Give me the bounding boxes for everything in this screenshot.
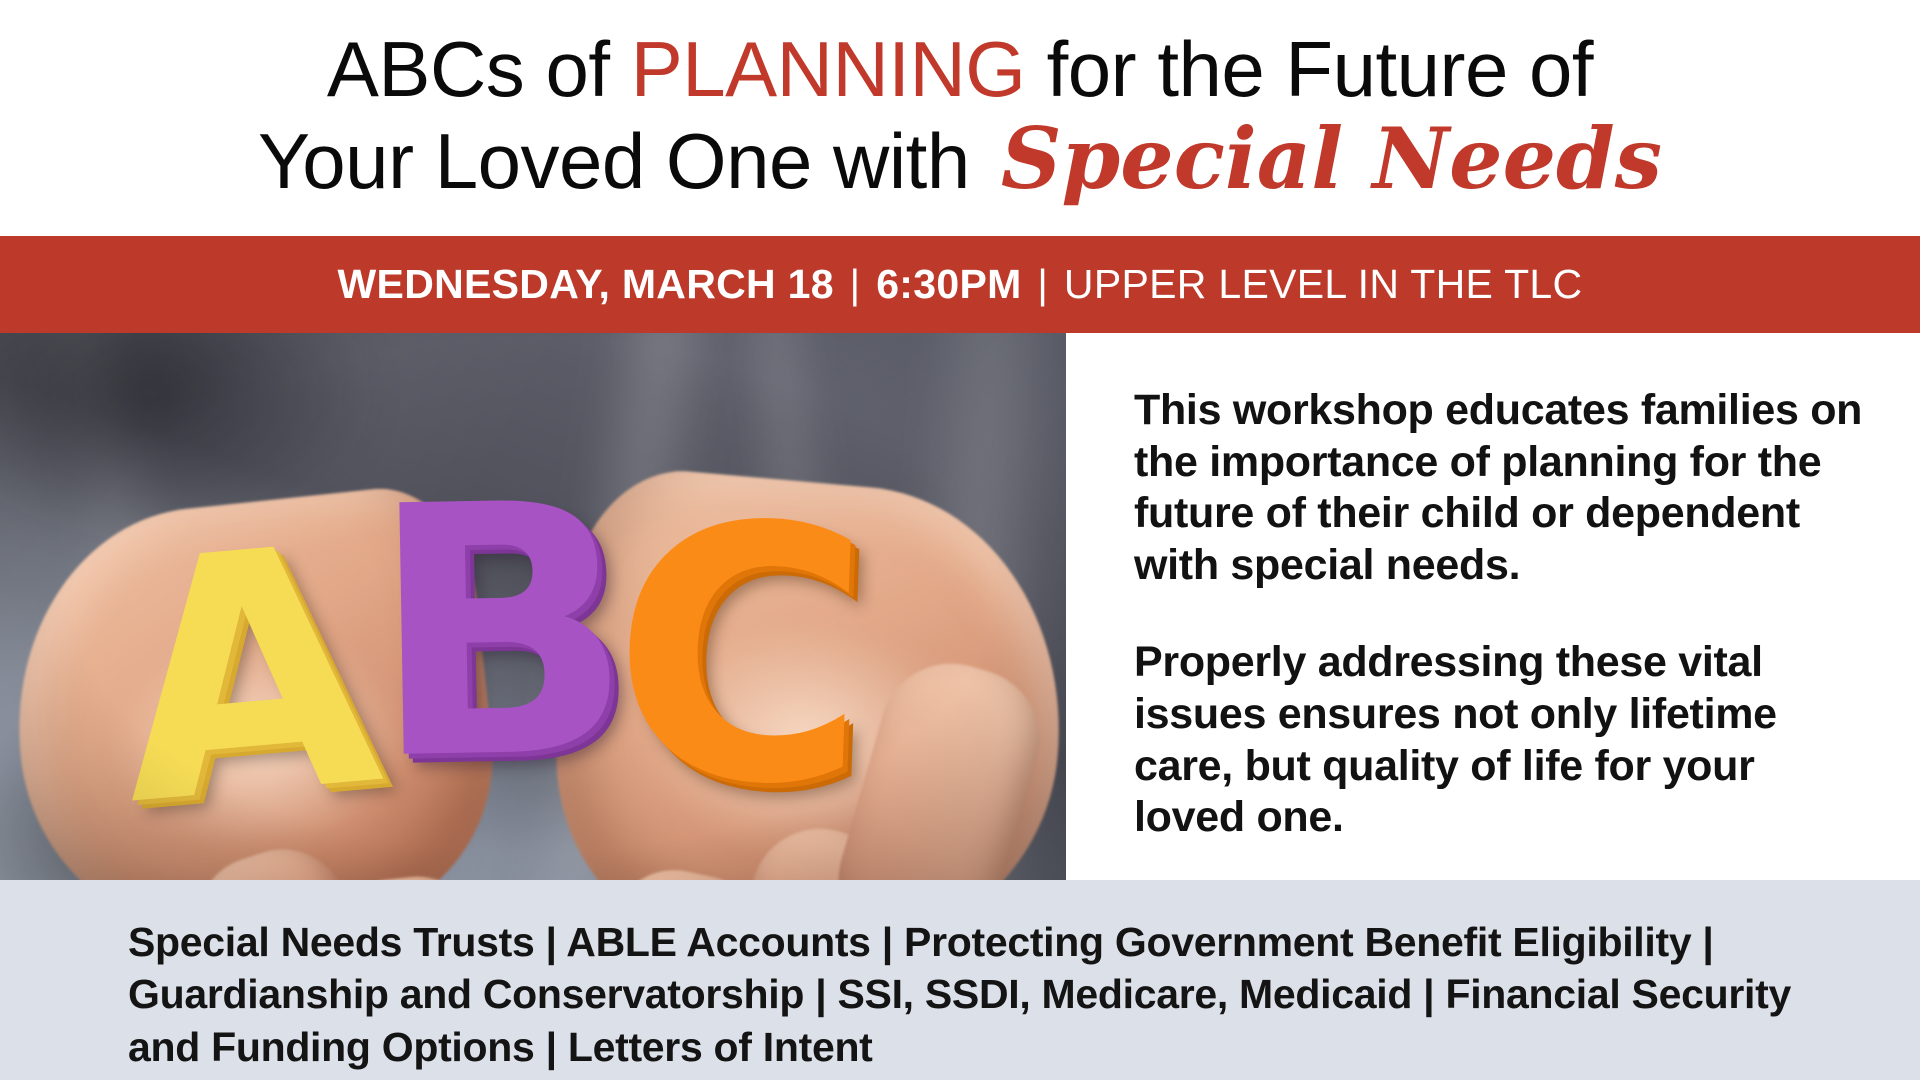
foam-letter-a: A — [106, 500, 389, 851]
banner-separator-2: | — [1033, 261, 1052, 307]
foam-letter-b: B — [367, 459, 636, 809]
date-banner-text: WEDNESDAY, MARCH 18 | 6:30PM | UPPER LEV… — [338, 264, 1583, 305]
headline-highlight-planning: PLANNING — [631, 25, 1026, 113]
banner-location: UPPER LEVEL IN THE TLC — [1064, 261, 1583, 307]
topics-text: Special Needs Trusts | ABLE Accounts | P… — [128, 916, 1830, 1073]
headline-text-for-the-future-of: for the Future of — [1025, 25, 1593, 113]
hands-abc-photo: A B C — [0, 333, 1066, 880]
banner-time: 6:30PM — [876, 261, 1021, 307]
body-paragraph-1: This workshop educates families on the i… — [1134, 385, 1876, 591]
headline-text-your-loved-one-with: Your Loved One with — [258, 117, 991, 205]
foam-letter-c: C — [606, 477, 875, 836]
date-banner: WEDNESDAY, MARCH 18 | 6:30PM | UPPER LEV… — [0, 236, 1920, 333]
body-paragraph-2: Properly addressing these vital issues e… — [1134, 637, 1876, 843]
headline-block: ABCs of PLANNING for the Future of Your … — [0, 0, 1920, 236]
body-copy-column: This workshop educates families on the i… — [1066, 333, 1920, 880]
banner-separator-1: | — [846, 261, 865, 307]
flyer-canvas: ABCs of PLANNING for the Future of Your … — [0, 0, 1920, 1080]
headline-line-1: ABCs of PLANNING for the Future of — [72, 30, 1848, 110]
topics-bar: Special Needs Trusts | ABLE Accounts | P… — [0, 880, 1920, 1080]
banner-day-date: WEDNESDAY, MARCH 18 — [338, 261, 834, 307]
headline-text-abcs-of: ABCs of — [327, 25, 631, 113]
headline-script-special-needs: Special Needs — [991, 109, 1662, 208]
headline-line-2: Your Loved One with Special Needs — [72, 116, 1848, 202]
